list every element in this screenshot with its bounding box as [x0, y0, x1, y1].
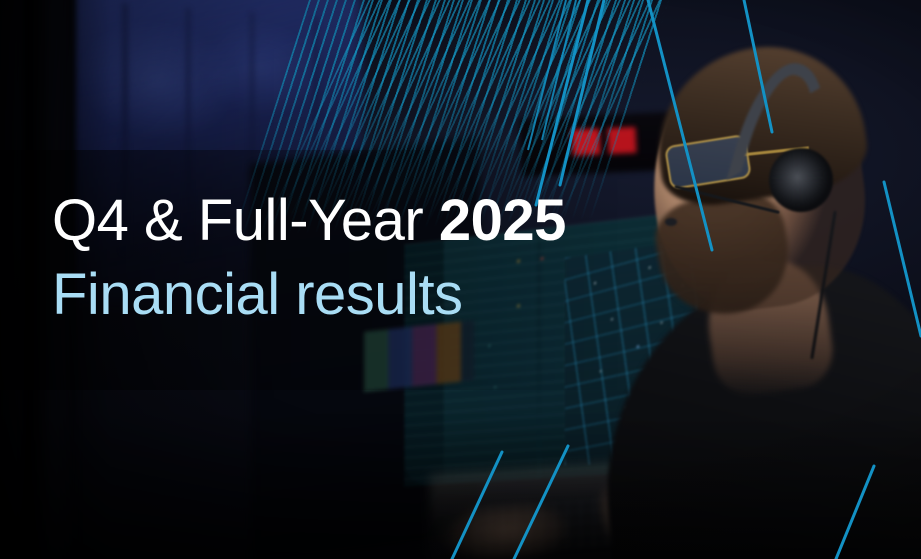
- headset-mic-tip: [665, 218, 677, 226]
- title-line-1-bold: 2025: [439, 188, 566, 253]
- title-line-2: Financial results: [52, 266, 566, 324]
- title-line-1-regular: Q4 & Full-Year: [52, 188, 439, 253]
- slide-canvas: Q4 & Full-Year 2025 Financial results: [0, 0, 921, 559]
- title-line-1: Q4 & Full-Year 2025: [52, 192, 566, 250]
- title-block: Q4 & Full-Year 2025 Financial results: [52, 192, 566, 324]
